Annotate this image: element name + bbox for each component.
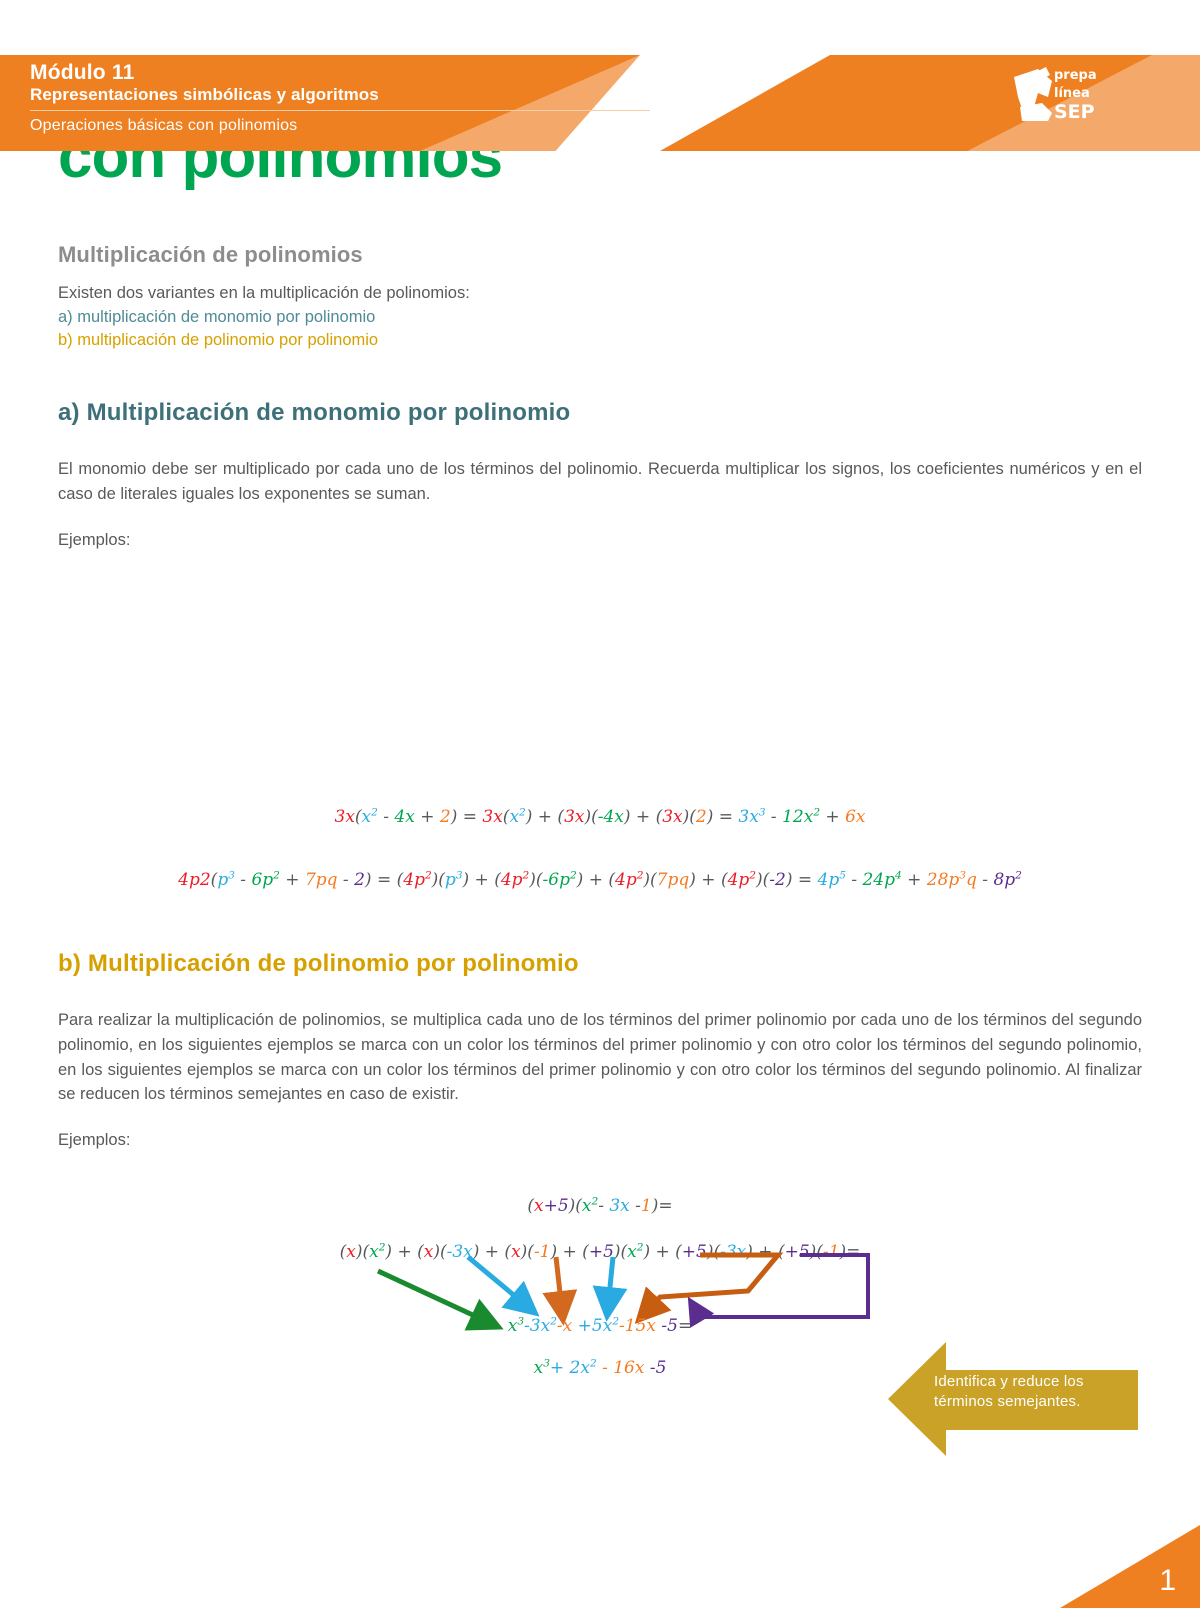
header-divider [30,110,650,111]
intro-heading: Multiplicación de polinomios [58,242,1142,268]
intro-section: Multiplicación de polinomios Existen dos… [0,242,1200,354]
header-text-block: Módulo 11 Representaciones simbólicas y … [30,61,680,135]
arrow-orange-1 [556,1257,562,1311]
intro-option-a: a) multiplicación de monomio por polinom… [58,306,1142,330]
module-subject: Representaciones simbólicas y algoritmos [30,85,680,105]
arrow-orange-bracket [645,1255,778,1313]
section-a: a) Multiplicación de monomio por polinom… [0,399,1200,552]
section-a-example-2: 4p2(p3 - 6p2 + 7pq - 2) = (4p2)(p3) + (4… [0,870,1200,890]
arrow-cyan-1 [468,1257,528,1307]
svg-text:SEP: SEP [1054,101,1095,123]
header-document-title: Operaciones básicas con polinomios [30,117,680,135]
section-b-examples-label: Ejemplos: [58,1129,1142,1153]
module-label: Módulo 11 [30,61,680,85]
intro-option-b: b) multiplicación de polinomio por polin… [58,329,1142,353]
section-a-paragraph: El monomio debe ser multiplicado por cad… [58,457,1142,507]
svg-text:prepa en: prepa en [1054,68,1100,83]
svg-text:línea: línea [1054,86,1090,101]
page-header: Módulo 11 Representaciones simbólicas y … [0,55,1200,155]
page-number: 1 [1159,1564,1176,1598]
callout-arrow: Identifica y reduce los términos semejan… [888,1338,1138,1460]
logo-icon: prepa en línea SEP [1008,63,1100,139]
section-a-example-1: 3x(x2 - 4x + 2) = 3x(x2) + (3x)(-4x) + (… [0,807,1200,827]
intro-paragraph: Existen dos variantes en la multiplicaci… [58,282,1142,306]
arrow-purple-bracket [694,1255,868,1317]
math-expression-1: 3x(x2 - 4x + 2) = 3x(x2) + (3x)(-4x) + (… [335,807,866,827]
section-a-heading: a) Multiplicación de monomio por polinom… [58,399,1142,427]
prepa-en-linea-sep-logo: prepa en línea SEP [1008,63,1100,139]
math-expression-2: 4p2(p3 - 6p2 + 7pq - 2) = (4p2)(p3) + (4… [178,870,1022,890]
footer-triangle [1060,1525,1200,1608]
section-b-heading: b) Multiplicación de polinomio por polin… [58,950,1142,978]
worked-line-3: x3-3x2-x +5x2-15x -5= [0,1315,1200,1336]
section-b-paragraph: Para realizar la multiplicación de polin… [58,1008,1142,1107]
section-a-examples-label: Ejemplos: [58,529,1142,553]
arrow-cyan-2 [608,1257,613,1307]
page-footer: 1 [1060,1525,1200,1608]
section-b: b) Multiplicación de polinomio por polin… [0,950,1200,1153]
callout-text: Identifica y reduce los términos semejan… [934,1372,1130,1413]
